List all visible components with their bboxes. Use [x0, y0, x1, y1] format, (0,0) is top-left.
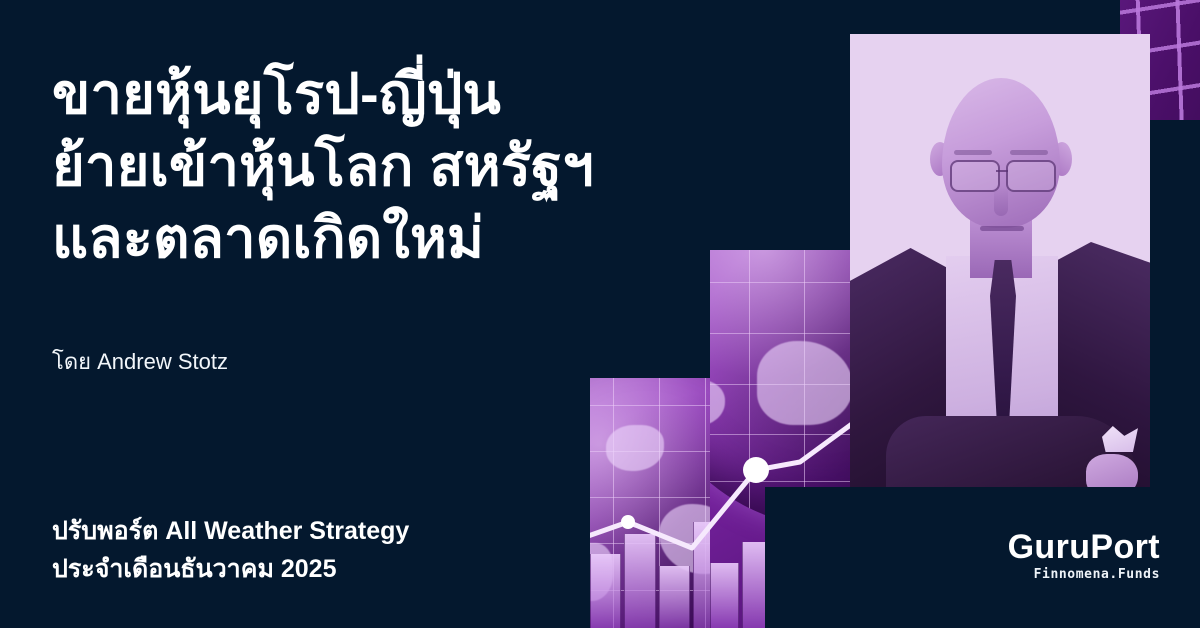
headline-line-2: ย้ายเข้าหุ้นโลก สหรัฐฯ — [52, 130, 732, 202]
logo-name: GuruPort — [960, 528, 1160, 566]
portrait-glasses-right — [1006, 160, 1056, 192]
brand-logo: GuruPort Finnomena.Funds — [960, 528, 1160, 584]
caption-line-1: ปรับพอร์ต All Weather Strategy — [52, 512, 409, 550]
notch-left-lower — [560, 378, 590, 628]
headline-line-1: ขายหุ้นยุโรป-ญี่ปุ่น — [52, 58, 732, 130]
headline-line-3: และตลาดเกิดใหม่ — [52, 202, 732, 274]
portrait-brow-left — [954, 150, 992, 155]
andrew-stotz-portrait — [850, 34, 1150, 487]
logo-tagline: Finnomena.Funds — [960, 566, 1160, 584]
subtitle-caption: ปรับพอร์ต All Weather Strategy ประจำเดือ… — [52, 512, 409, 588]
portrait-hand — [1086, 454, 1138, 487]
portrait-glasses-left — [950, 160, 1000, 192]
portrait-brow-right — [1010, 150, 1048, 155]
social-card: ขายหุ้นยุโรป-ญี่ปุ่น ย้ายเข้าหุ้นโลก สหร… — [0, 0, 1200, 628]
caption-line-2: ประจำเดือนธันวาคม 2025 — [52, 550, 409, 588]
author-byline: โดย Andrew Stotz — [52, 344, 228, 379]
landmass — [606, 425, 664, 471]
portrait-mouth — [980, 226, 1024, 231]
portrait-glasses-bridge — [996, 170, 1008, 172]
page-title: ขายหุ้นยุโรป-ญี่ปุ่น ย้ายเข้าหุ้นโลก สหร… — [52, 58, 732, 274]
portrait-nose — [994, 186, 1008, 216]
